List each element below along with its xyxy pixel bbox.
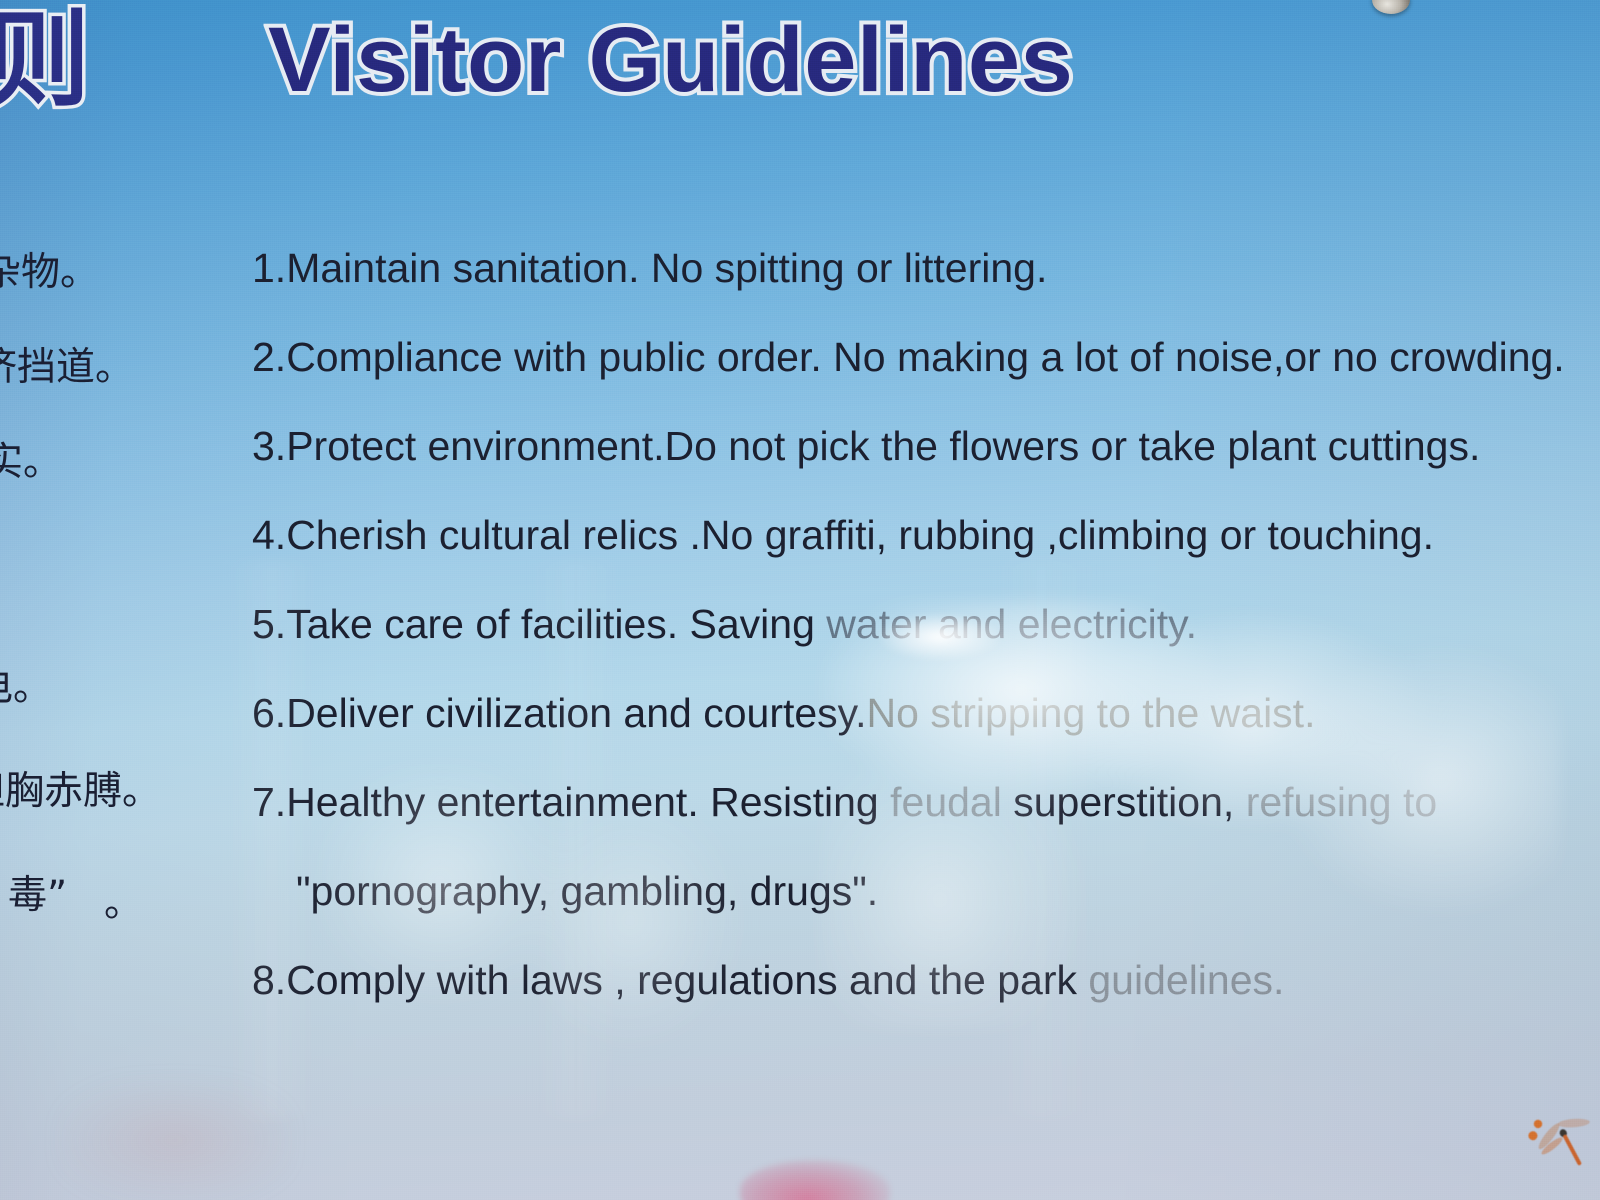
guideline-item: 6. Deliver civilization and courtesy.No … [252,693,1582,782]
guideline-number: 4. [252,515,286,556]
guideline-text-segment: No stripping to the waist. [867,690,1316,736]
guideline-item: 8. Comply with laws , regulations and th… [252,960,1582,1049]
guideline-text-segment: guidelines. [1077,957,1284,1003]
chinese-text-line: 电。 [0,668,52,707]
guideline-text-segment: Healthy entertainment. Resisting [286,779,879,825]
guideline-item: 2. Compliance with public order. No maki… [252,337,1582,426]
guideline-text: Healthy entertainment. Resisting feudal … [286,782,1437,823]
guideline-text-segment: superstition, [1002,779,1234,825]
guideline-number: 6. [252,693,286,734]
chinese-text-line: 毒” [8,876,67,915]
chinese-text-line: 袒胸赤膊。 [0,772,161,811]
guideline-number: 3. [252,426,286,467]
guideline-item: 5. Take care of facilities. Saving water… [252,604,1582,693]
guideline-number: 5. [252,604,286,645]
chinese-text-line: 济挡道。 [0,348,134,387]
guideline-text: Cherish cultural relics .No graffiti, ru… [286,515,1434,556]
visitor-guidelines-sign: 则 Visitor Guidelines 杂物。济挡道。实。电。袒胸赤膊。毒”。… [0,0,1600,1200]
guideline-text: Take care of facilities. Saving water an… [286,604,1197,645]
guideline-item: 3. Protect environment.Do not pick the f… [252,426,1582,515]
guideline-item: 4. Cherish cultural relics .No graffiti,… [252,515,1582,604]
sign-title-row: 则 Visitor Guidelines [0,6,1600,136]
guideline-continuation-line: "pornography, gambling, drugs". [252,871,1582,960]
guideline-item: 7. Healthy entertainment. Resisting feud… [252,782,1582,871]
guideline-text: Comply with laws , regulations and the p… [286,960,1284,1001]
guideline-text-segment: water and electricity. [815,601,1197,647]
dragonfly-icon [1528,1102,1600,1182]
guideline-number: 1. [252,248,286,289]
guideline-text-segment: Take care of facilities. Saving [286,601,815,647]
flower-icon [740,1160,890,1200]
guideline-text-segment: Compliance with public order. No making … [286,334,1565,380]
guideline-text-segment: Comply with laws , regulations and the p… [286,957,1077,1003]
guideline-text-segment: Deliver civilization and courtesy. [286,690,866,736]
guideline-text: Maintain sanitation. No spitting or litt… [286,248,1047,289]
guideline-number: 8. [252,960,286,1001]
guideline-text-segment: refusing to [1234,779,1437,825]
chinese-text-line: 杂物。 [0,253,99,292]
chinese-text-line: 实。 [0,443,62,482]
guideline-text-segment: feudal [879,779,1002,825]
guideline-item: 1. Maintain sanitation. No spitting or l… [252,248,1582,337]
guideline-text-segment: Protect environment.Do not pick the flow… [286,423,1480,469]
guideline-text-segment: Maintain sanitation. No spitting or litt… [286,245,1047,291]
guideline-text: Protect environment.Do not pick the flow… [286,426,1480,467]
page-title: Visitor Guidelines [268,14,1073,106]
guideline-text: Deliver civilization and courtesy.No str… [286,693,1315,734]
guidelines-list: 1. Maintain sanitation. No spitting or l… [252,248,1582,1049]
guideline-number: 7. [252,782,286,823]
guideline-text: Compliance with public order. No making … [286,337,1565,378]
guideline-number: 2. [252,337,286,378]
guideline-text-segment: Cherish cultural relics .No graffiti, ru… [286,512,1434,558]
chinese-text-column: 杂物。济挡道。实。电。袒胸赤膊。毒”。 [0,0,190,1200]
guideline-text-segment: "pornography, gambling, drugs". [296,868,878,914]
chinese-text-line: 。 [104,884,143,923]
